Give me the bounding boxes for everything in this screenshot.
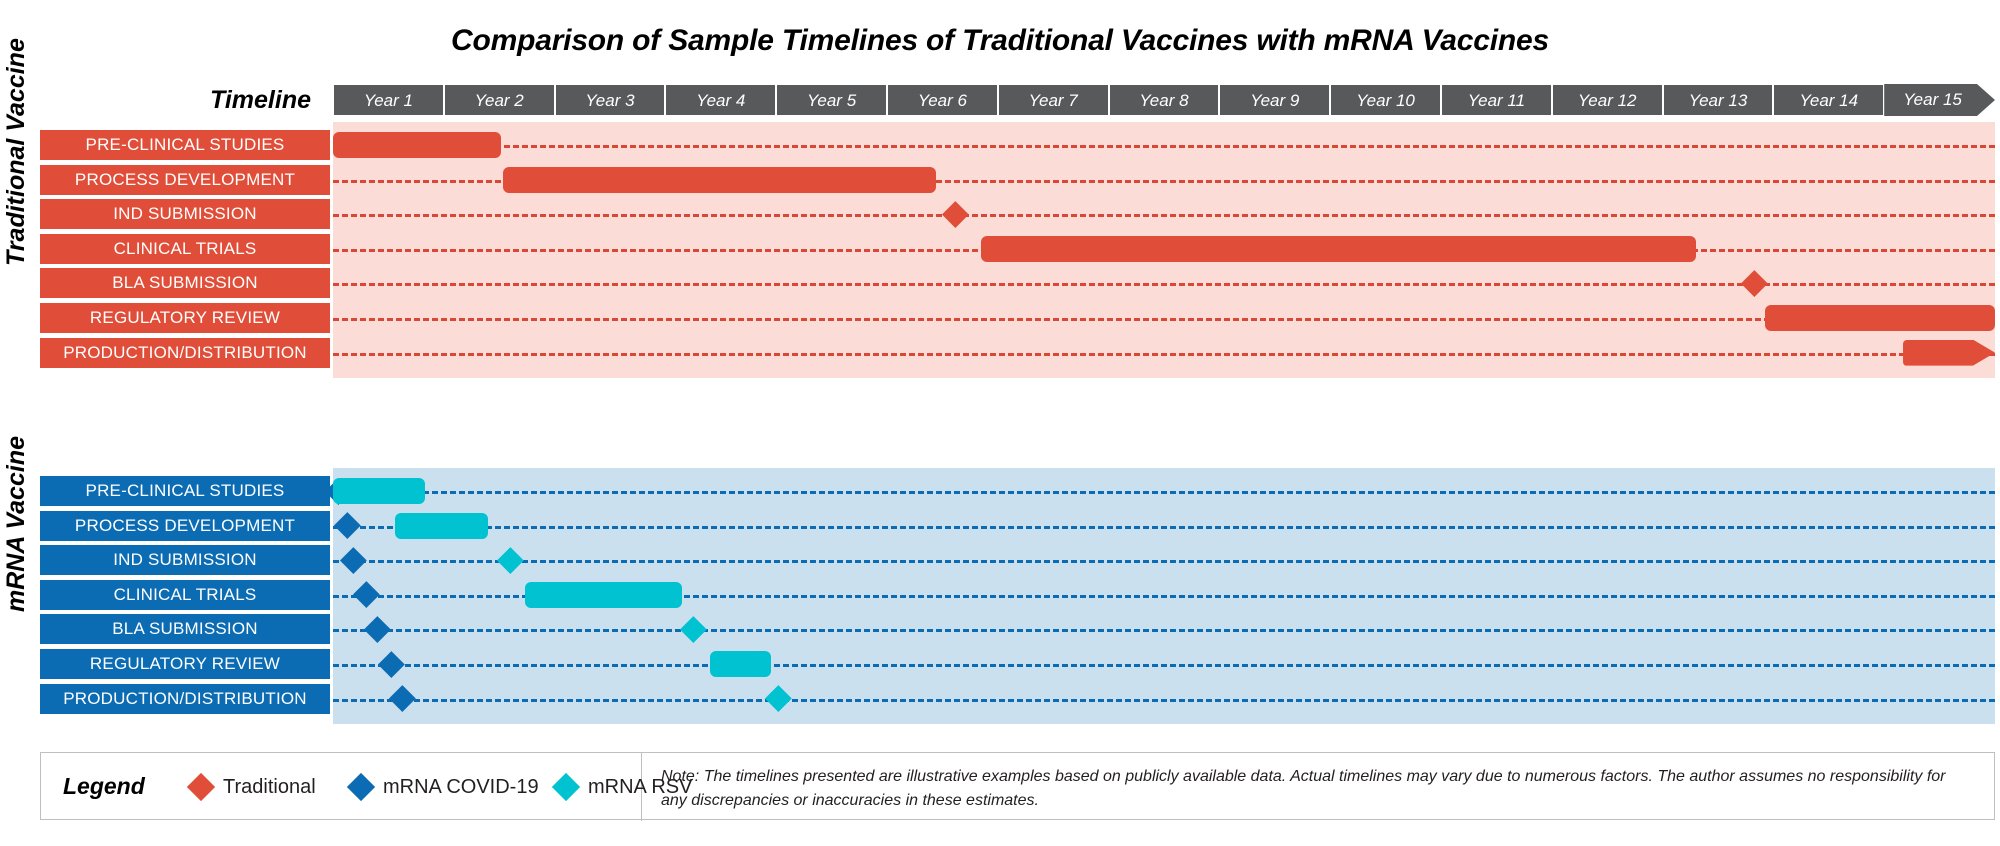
year-header-cell: Year 5: [776, 84, 887, 116]
year-header-row: Year 1Year 2Year 3Year 4Year 5Year 6Year…: [333, 84, 1995, 116]
gantt-bar[interactable]: [503, 167, 936, 193]
row-baseline: [333, 145, 1995, 148]
row-label-regulatory-review[interactable]: REGULATORY REVIEW: [40, 649, 330, 679]
row-label-ind-submission[interactable]: IND SUBMISSION: [40, 545, 330, 575]
row-baseline: [333, 214, 1995, 217]
row-label-pre-clinical-studies[interactable]: PRE-CLINICAL STUDIES: [40, 130, 330, 160]
year-header-cell: Year 1: [333, 84, 444, 116]
row-baseline: [333, 664, 1995, 667]
legend: Legend TraditionalmRNA COVID-19mRNA RSV …: [40, 752, 1995, 820]
row-baseline: [333, 318, 1995, 321]
legend-diamond-icon: [552, 773, 580, 801]
gantt-bar[interactable]: [333, 132, 501, 158]
legend-title: Legend: [63, 773, 145, 800]
year-header-cell: Year 14: [1773, 84, 1884, 116]
group-label-mrna: mRNA Vaccine: [0, 580, 32, 612]
gantt-chart: Comparison of Sample Timelines of Tradit…: [0, 0, 2000, 846]
year-header-cell: Year 3: [555, 84, 666, 116]
year-header-cell: Year 4: [665, 84, 776, 116]
legend-item-label: Traditional: [223, 776, 316, 799]
year-header-cell: Year 8: [1109, 84, 1220, 116]
gantt-bar[interactable]: [395, 513, 488, 539]
row-baseline: [333, 491, 1995, 494]
row-baseline: [333, 699, 1995, 702]
row-label-ind-submission[interactable]: IND SUBMISSION: [40, 199, 330, 229]
year-header-cell: Year 12: [1552, 84, 1663, 116]
year-header-cell: Year 10: [1330, 84, 1441, 116]
row-label-production-distribution[interactable]: PRODUCTION/DISTRIBUTION: [40, 338, 330, 368]
row-label-production-distribution[interactable]: PRODUCTION/DISTRIBUTION: [40, 684, 330, 714]
legend-item[interactable]: Traditional: [191, 774, 316, 800]
row-baseline: [333, 353, 1995, 356]
legend-diamond-icon: [347, 773, 375, 801]
page-title: Comparison of Sample Timelines of Tradit…: [0, 24, 2000, 58]
gantt-bar[interactable]: [525, 582, 682, 608]
gantt-bar[interactable]: [710, 651, 771, 677]
legend-item[interactable]: mRNA COVID-19: [351, 774, 539, 800]
year-header-cell: Year 13: [1663, 84, 1774, 116]
gantt-bar[interactable]: [981, 236, 1696, 262]
row-label-process-development[interactable]: PROCESS DEVELOPMENT: [40, 165, 330, 195]
gantt-bar[interactable]: [1765, 305, 1995, 331]
row-label-process-development[interactable]: PROCESS DEVELOPMENT: [40, 511, 330, 541]
row-label-bla-submission[interactable]: BLA SUBMISSION: [40, 614, 330, 644]
legend-note: Note: The timelines presented are illust…: [661, 765, 1971, 813]
year-header-cell: Year 2: [444, 84, 555, 116]
row-baseline: [333, 629, 1995, 632]
year-header-cell: Year 11: [1441, 84, 1552, 116]
group-label-traditional: Traditional Vaccine: [0, 234, 32, 266]
row-label-regulatory-review[interactable]: REGULATORY REVIEW: [40, 303, 330, 333]
row-label-pre-clinical-studies[interactable]: PRE-CLINICAL STUDIES: [40, 476, 330, 506]
legend-item-label: mRNA COVID-19: [383, 776, 539, 799]
year-header-cell: Year 9: [1219, 84, 1330, 116]
timeline-axis-label: Timeline: [40, 84, 323, 116]
year-header-cell: Year 7: [998, 84, 1109, 116]
row-label-clinical-trials[interactable]: CLINICAL TRIALS: [40, 580, 330, 610]
gantt-bar[interactable]: [333, 478, 425, 504]
year-header-label: Year 15: [1884, 84, 1995, 116]
row-label-bla-submission[interactable]: BLA SUBMISSION: [40, 268, 330, 298]
legend-diamond-icon: [187, 773, 215, 801]
row-baseline: [333, 560, 1995, 563]
row-baseline: [333, 526, 1995, 529]
year-header-cell: Year 15: [1884, 84, 1995, 116]
row-label-clinical-trials[interactable]: CLINICAL TRIALS: [40, 234, 330, 264]
year-header-cell: Year 6: [887, 84, 998, 116]
